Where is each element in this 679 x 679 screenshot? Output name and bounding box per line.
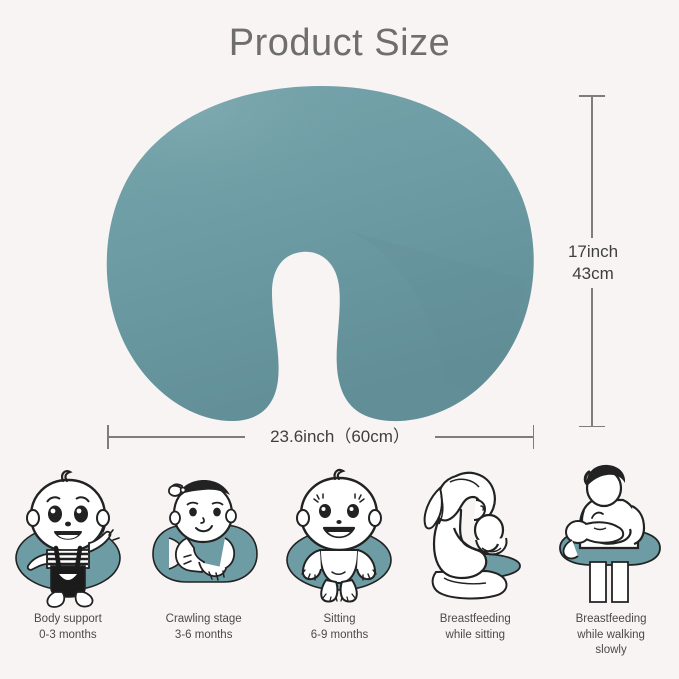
height-line-cap-bottom [579,426,605,428]
product-image [96,80,546,430]
usecase-caption: Body support 0-3 months [8,612,128,643]
baby-sitting-supported-icon [3,462,133,610]
nursing-pillow-illustration [96,80,546,430]
parent-breastfeeding-walking-icon [546,462,676,610]
page-title: Product Size [0,22,679,65]
product-size-infographic: Product Size [0,0,679,679]
usecase-item: Sitting 6-9 months [272,462,408,643]
baby-tummy-time-icon [139,462,269,610]
usecase-row: Body support 0-3 months [0,462,679,679]
usecase-caption: Breastfeeding while sitting [415,612,535,643]
height-line-cap-top [579,95,605,97]
height-dimension-label: 17inch 43cm [547,238,639,288]
usecase-caption: Sitting 6-9 months [279,612,399,643]
usecase-item: Body support 0-3 months [0,462,136,643]
usecase-caption: Crawling stage 3-6 months [144,612,264,643]
usecase-item: Breastfeeding while sitting [407,462,543,643]
usecase-caption: Breastfeeding while walking slowly [551,612,671,659]
usecase-item: Breastfeeding while walking slowly [543,462,679,659]
mother-breastfeeding-sitting-icon [410,462,540,610]
usecase-item: Crawling stage 3-6 months [136,462,272,643]
width-line-cap-left [107,425,109,449]
width-dimension-label: 23.6inch（60cm） [245,425,435,449]
width-line-cap-right [533,425,535,449]
baby-sitting-icon [274,462,404,610]
